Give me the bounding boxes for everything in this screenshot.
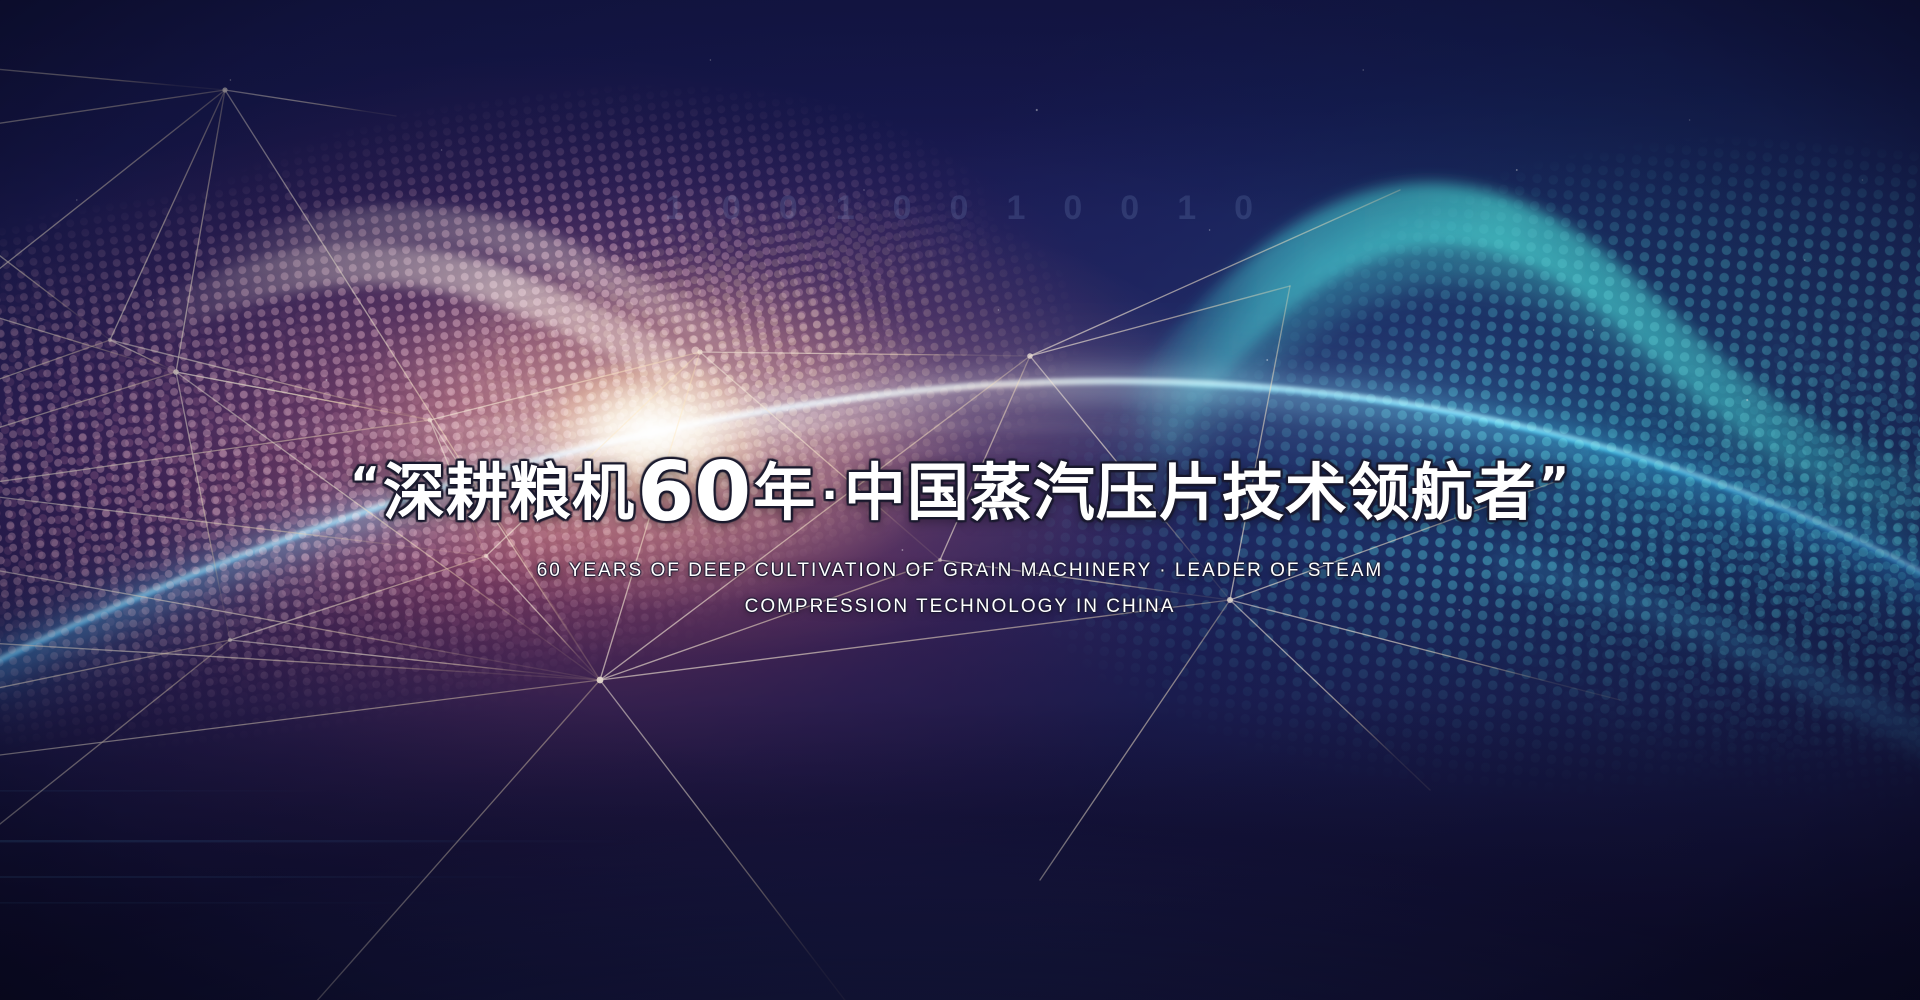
close-quote: ” [1537, 457, 1572, 511]
decorative-binary-strip: 10010010010 [0, 178, 1920, 238]
page-title: “深耕粮机60年·中国蒸汽压片技术领航者” [0, 452, 1920, 534]
binary-digit: 0 [779, 189, 800, 228]
headline-separator: · [816, 470, 844, 521]
subtitle-line-1: 60 YEARS OF DEEP CULTIVATION OF GRAIN MA… [0, 560, 1920, 582]
binary-digit: 0 [950, 189, 971, 228]
binary-digit: 1 [836, 189, 857, 228]
binary-digit: 0 [1120, 189, 1141, 228]
binary-digit: 1 [665, 189, 686, 228]
hero-banner: 10010010010 [0, 0, 1920, 1000]
headline-part-3: 中国蒸汽压片技术领航者 [844, 456, 1537, 529]
banner-text-block: “深耕粮机60年·中国蒸汽压片技术领航者” 60 YEARS OF DEEP C… [0, 452, 1920, 618]
binary-digit: 0 [722, 189, 743, 228]
binary-digit: 1 [1006, 189, 1027, 228]
open-quote: “ [348, 457, 383, 511]
headline-number: 60 [635, 445, 753, 540]
binary-digit: 0 [893, 189, 914, 228]
binary-digit: 1 [1177, 189, 1198, 228]
headline-part-1: 深耕粮机 [383, 456, 635, 529]
binary-digit: 0 [1063, 189, 1084, 228]
headline-part-2: 年 [753, 456, 816, 529]
binary-digit: 0 [1234, 189, 1255, 228]
subtitle-line-2: COMPRESSION TECHNOLOGY IN CHINA [0, 596, 1920, 618]
